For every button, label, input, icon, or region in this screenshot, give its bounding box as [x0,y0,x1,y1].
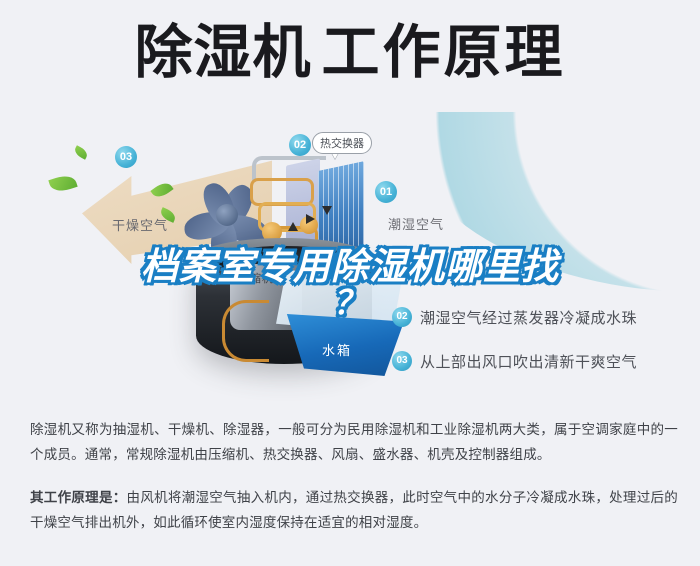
copper-coil [222,300,269,362]
step-list: 02 潮湿空气经过蒸发器冷凝成水珠 03 从上部出风口吹出清新干爽空气 [392,302,692,390]
flow-arrow-up-icon [288,222,298,231]
diagram-badge-01: 01 [375,181,397,203]
step-badge: 03 [392,351,412,371]
step-label: 从上部出风口吹出清新干爽空气 [420,351,637,372]
diagram-badge-02: 02 [289,134,311,156]
page-title-part2: 工作原理 [322,24,566,82]
body-copy: 除湿机又称为抽湿机、干燥机、除湿器，一般可分为民用除湿机和工业除湿机两大类，属于… [30,418,678,536]
poster-canvas: 除湿机工作原理 干燥空气 潮湿空气 [0,0,700,566]
list-item: 02 潮湿空气经过蒸发器冷凝成水珠 [392,302,692,332]
body-paragraph-2-lead: 其工作原理是： [30,490,127,505]
body-paragraph-2-rest: 由风机将潮湿空气抽入机内，通过热交换器，此时空气中的水分子冷凝成水珠，处理过后的… [30,490,678,530]
heat-exchanger-tag: 热交换器 [312,132,372,154]
humid-air-label: 潮湿空气 [388,214,444,233]
step-badge: 02 [392,307,412,327]
dry-air-label: 干燥空气 [112,215,168,234]
compressor-label: 压缩机 [238,270,274,286]
flow-arrow-right-icon [306,214,315,224]
body-paragraph-2: 其工作原理是：由风机将潮湿空气抽入机内，通过热交换器，此时空气中的水分子冷凝成水… [30,486,678,536]
body-paragraph-1: 除湿机又称为抽湿机、干燥机、除湿器，一般可分为民用除湿机和工业除湿机两大类，属于… [30,418,678,468]
page-title-part1: 除湿机 [134,24,311,82]
flow-arrow-down-icon [322,206,332,215]
step-label: 潮湿空气经过蒸发器冷凝成水珠 [420,307,637,328]
water-tank-label: 水箱 [322,340,352,359]
diagram-badge-03: 03 [115,146,137,168]
leaf-icon [73,145,90,160]
humid-air-flow-swoosh [398,112,698,292]
leaf-icon [48,172,77,194]
list-item: 03 从上部出风口吹出清新干爽空气 [392,346,692,376]
page-title: 除湿机工作原理 [0,24,700,82]
